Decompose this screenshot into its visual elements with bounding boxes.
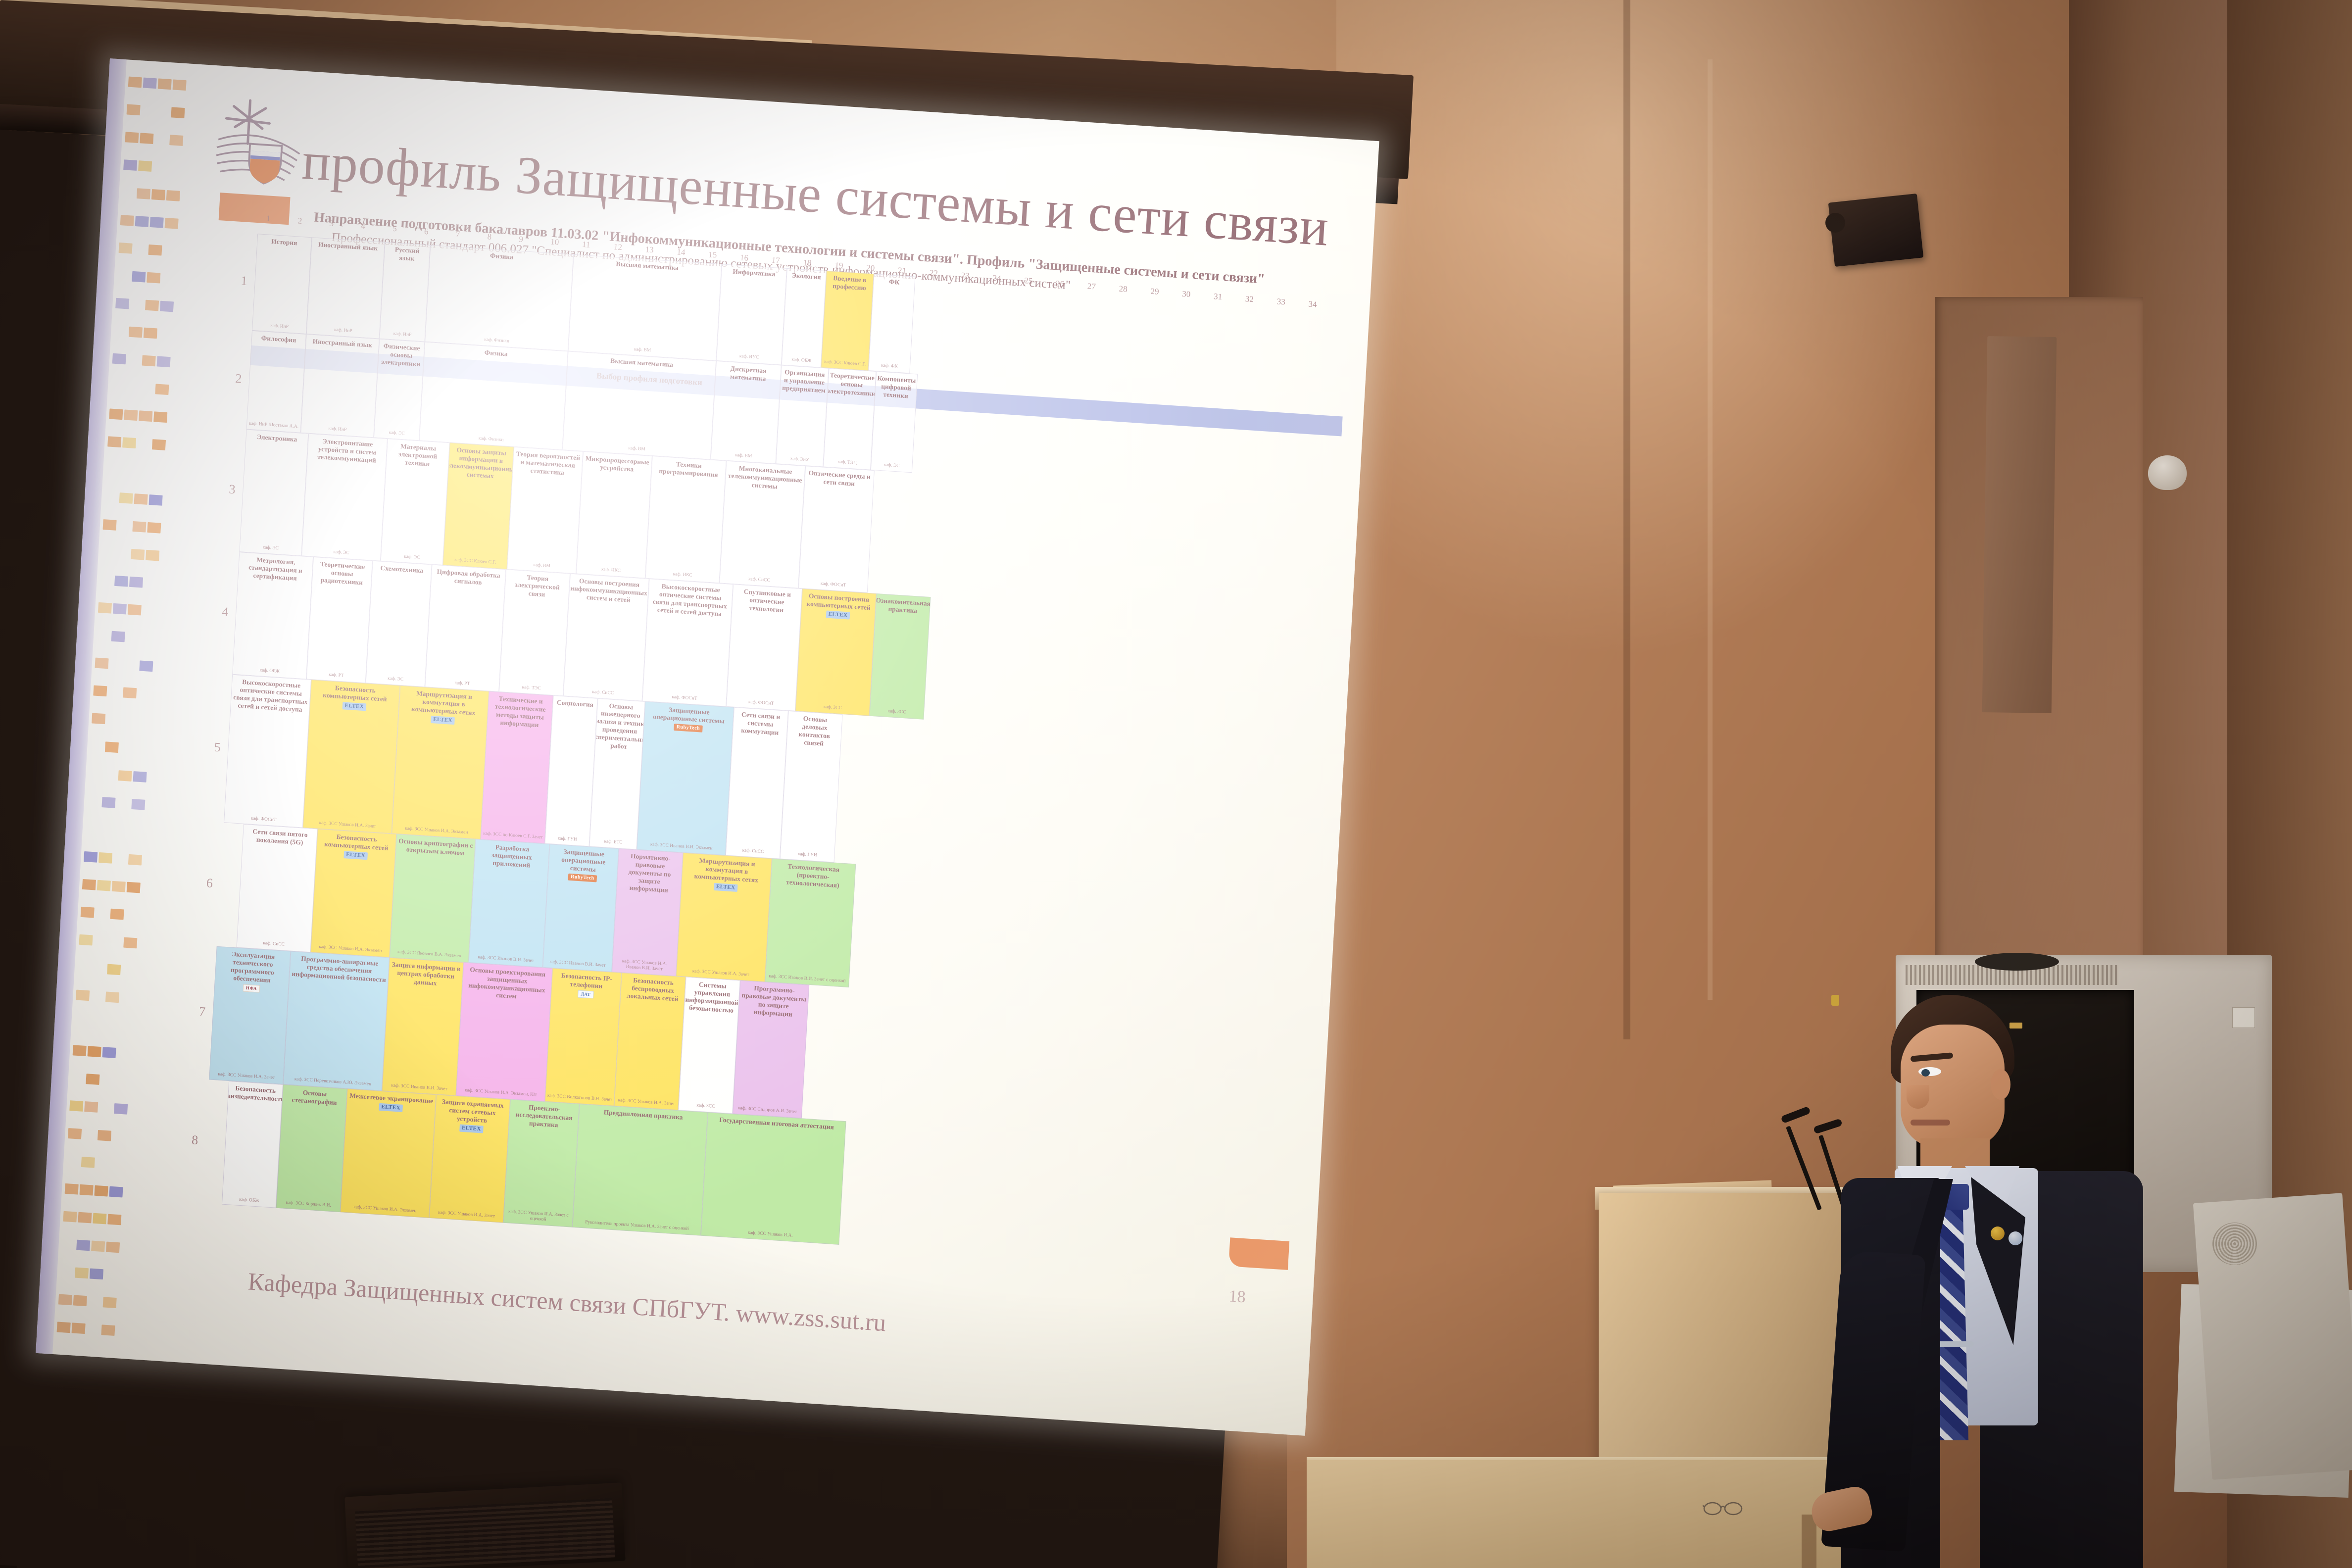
mosaic-tile xyxy=(98,1130,111,1141)
mosaic-tile xyxy=(148,245,162,256)
mosaic-tile xyxy=(78,1212,92,1224)
column-number: 4 xyxy=(361,221,366,232)
column-number: 9 xyxy=(519,234,524,245)
course-title: Государственная итоговая аттестация xyxy=(719,1116,834,1131)
course-cell[interactable]: Русский языккаф. ИиР xyxy=(379,242,430,342)
course-cell[interactable]: Электроникакаф. ЭС xyxy=(239,429,308,556)
course-title: Сети связи пятого поколения (5G) xyxy=(245,827,316,847)
course-meta: каф. РТ xyxy=(454,681,470,687)
mosaic-tile xyxy=(105,741,119,753)
course-title: Метрология, стандартизация и сертификаци… xyxy=(240,555,311,583)
course-cell[interactable]: Физические основы электроникикаф. ЭС xyxy=(374,339,425,441)
course-cell[interactable]: Основы стеганографиикаф. ЗСС Коржик В.И. xyxy=(276,1084,347,1212)
ruby-logo-icon: RubyTech xyxy=(568,873,597,882)
mosaic-tile xyxy=(127,882,141,893)
wall-seam xyxy=(1623,0,1630,1039)
mosaic-tile xyxy=(147,522,161,534)
mosaic-tile xyxy=(128,604,142,616)
orange-corner-accent xyxy=(1228,1237,1289,1270)
course-title: Программно-правовые документы по защите … xyxy=(740,983,807,1019)
row-number: 6 xyxy=(206,876,213,891)
mosaic-tile xyxy=(84,1101,98,1113)
course-title: Защита охраняемых систем сетевых устройс… xyxy=(437,1098,508,1126)
course-title: Межсетевое экранирование xyxy=(349,1092,434,1105)
course-meta: каф. ЗСС Коржик В.И. xyxy=(286,1200,331,1209)
mosaic-tile xyxy=(132,271,146,283)
mosaic-tile xyxy=(129,577,143,588)
course-meta: каф. ЭС xyxy=(404,554,420,561)
course-cell[interactable]: Технологическая (проектно-технологическа… xyxy=(765,858,856,987)
course-title: Информатика xyxy=(733,268,776,278)
course-cell[interactable]: Спутниковые и оптические технологиикаф. … xyxy=(726,584,802,711)
course-cell[interactable]: Физикакаф. Физики xyxy=(425,245,574,351)
course-cell[interactable]: Технические и технологические методы защ… xyxy=(481,691,553,844)
course-title: Защищенные операционные системы xyxy=(550,847,617,875)
course-cell[interactable]: Основы инженерного анализа и техники про… xyxy=(589,698,645,850)
course-cell[interactable]: Основы криптографии с открытым ключомкаф… xyxy=(390,834,476,963)
course-cell[interactable]: Иностранный языккаф. ИиР xyxy=(306,237,385,339)
curriculum-table[interactable]: Выбор профиля подготовки 1Историякаф. Ии… xyxy=(201,234,1349,1283)
course-meta: каф. ИУС xyxy=(739,354,759,361)
mosaic-tile xyxy=(122,437,136,448)
course-meta: каф. ЗСС xyxy=(696,1103,715,1110)
course-cell[interactable]: Микропроцессорные устройствакаф. ИКС xyxy=(576,451,652,579)
mosaic-tile xyxy=(144,328,157,339)
course-meta: каф. ЗСС xyxy=(887,709,906,715)
column-speaker xyxy=(1982,336,2057,713)
course-cell[interactable]: Физикакаф. Физики xyxy=(419,342,568,450)
course-title: Теория электрической связи xyxy=(506,572,568,600)
eltex-logo-icon: ELTEX xyxy=(431,716,455,725)
course-cell[interactable]: Социологиякаф. ГУИ xyxy=(545,695,598,846)
course-meta: каф. ОБЖ xyxy=(239,1197,259,1204)
course-meta: каф. ВМ xyxy=(735,453,752,459)
mosaic-tile xyxy=(113,603,127,615)
mosaic-tile xyxy=(137,188,150,199)
mosaic-tile xyxy=(86,1074,99,1085)
course-meta: каф. ЗСС Иванов В.И. Зачет xyxy=(478,955,534,964)
course-title: Основы деловых контактов связей xyxy=(788,714,840,748)
speaker-bracket xyxy=(1825,213,1845,233)
course-cell[interactable]: Дискретная математикакаф. ВМ xyxy=(711,361,782,464)
mosaic-tile xyxy=(101,797,115,808)
mosaic-tile xyxy=(131,549,145,560)
column-number: 18 xyxy=(803,258,812,268)
mosaic-tile xyxy=(120,215,134,226)
course-title: Иностранный язык xyxy=(312,338,372,349)
mosaic-tile xyxy=(129,327,143,338)
course-meta: каф. ЗСС Ушаков И.А. Иванов В.И. Зачет xyxy=(614,958,675,973)
course-title: Высшая математика xyxy=(616,260,679,272)
screen-left-edge xyxy=(0,1565,17,1568)
row-number: 2 xyxy=(235,371,243,387)
course-meta: каф. ЭС xyxy=(333,549,349,556)
course-title: Техники программирования xyxy=(653,459,725,479)
mosaic-tile xyxy=(143,77,157,89)
course-cell[interactable]: Программно-аппаратные средства обеспечен… xyxy=(283,951,390,1091)
column-number: 22 xyxy=(929,268,938,279)
course-meta: каф. ФОСиТ xyxy=(821,582,846,588)
mosaic-tile xyxy=(73,1295,87,1306)
mosaic-tile xyxy=(165,218,179,229)
column-number: 8 xyxy=(487,232,492,242)
course-meta: каф. РТ xyxy=(329,672,344,679)
course-meta: каф. ИКС xyxy=(673,572,692,579)
ruby-logo-icon: RubyTech xyxy=(674,724,702,733)
course-title: Многоканальные телекоммуникационные сист… xyxy=(727,464,803,492)
course-title: Маршрутизация и коммутация в компьютерны… xyxy=(684,856,770,885)
mosaic-tile xyxy=(169,135,183,146)
course-title: Высшая математика xyxy=(610,357,673,369)
column-number: 7 xyxy=(455,229,460,240)
mosaic-tile xyxy=(119,243,133,254)
course-cell[interactable]: Теоретические основы радиотехникикаф. РТ xyxy=(306,557,373,683)
course-meta: каф. ЗСС Ушаков И.А. Экзамен xyxy=(353,1205,417,1214)
mosaic-tile xyxy=(90,1269,103,1280)
row-number: 4 xyxy=(222,604,229,620)
course-title: Основы защиты информации в телекоммуника… xyxy=(443,445,514,482)
wall-seam-highlight xyxy=(1708,59,1713,1000)
course-title: Цифровая обработка сигналов xyxy=(433,568,504,588)
course-title: Основы построения компьютерных сетей xyxy=(803,592,875,612)
course-title: Иностранный язык xyxy=(318,241,378,252)
course-meta: каф. ЗСС Ушаков И.А. Экзамен, КП xyxy=(465,1088,537,1098)
mosaic-tile xyxy=(84,851,98,863)
mosaic-tile xyxy=(146,550,159,561)
course-cell[interactable]: ФКкаф. ФК xyxy=(868,274,915,373)
course-title: Основы инженерного анализа и техники про… xyxy=(589,701,645,752)
course-cell[interactable]: Экологиякаф. ОБЖ xyxy=(782,268,827,368)
course-cell[interactable]: Безопасность IP-телефонииДАТкаф. ЗСС Вол… xyxy=(545,968,622,1106)
mosaic-tile xyxy=(134,493,148,505)
course-title: Русский язык xyxy=(386,245,429,263)
course-title: Безопасность беспроводных локальных сете… xyxy=(622,976,684,1003)
course-title: Преддипломная практика xyxy=(603,1108,683,1121)
eltex-logo-icon: ELTEX xyxy=(713,883,738,892)
course-cell[interactable]: Маршрутизация и коммутация в компьютерны… xyxy=(676,853,772,982)
column-number: 5 xyxy=(392,224,397,234)
mosaic-tile xyxy=(124,409,138,421)
course-meta: каф. Физики xyxy=(479,436,504,443)
course-cell[interactable]: Ознакомительная практикакаф. ЗСС xyxy=(869,593,931,720)
course-cell[interactable]: Многоканальные телекоммуникационные сист… xyxy=(719,461,805,588)
mosaic-tile xyxy=(109,408,123,420)
mosaic-tile xyxy=(145,300,159,311)
course-title: Безопасность IP-телефонии xyxy=(553,971,620,991)
speaker-grille-icon xyxy=(2212,1223,2257,1265)
mosaic-tile xyxy=(58,1294,72,1306)
course-meta: каф. ЗСС Ушаков И.А. Зачет с оценкой xyxy=(505,1209,571,1225)
course-cell[interactable]: Защищенные операционные системыRubyTechк… xyxy=(542,844,619,972)
course-cell[interactable]: Философиякаф. ИиР Шестаков А.А. xyxy=(246,331,306,433)
mosaic-tile xyxy=(97,880,111,891)
column-number: 1 xyxy=(266,213,271,224)
course-cell[interactable]: Цифровая обработка сигналовкаф. РТ xyxy=(425,564,506,691)
course-cell[interactable]: Высшая математикакаф. ВМ xyxy=(568,254,722,361)
course-meta: каф. ЗСС Ушаков И.А. Экзамен xyxy=(405,826,468,835)
mosaic-tile xyxy=(115,298,129,309)
course-title: Физика xyxy=(490,252,514,261)
course-cell[interactable]: Основы построения инфокоммуникационных с… xyxy=(563,574,649,701)
mosaic-tile xyxy=(80,1184,94,1196)
course-cell[interactable]: Высокоскоростные оптические системы связ… xyxy=(224,675,311,828)
mosaic-tile xyxy=(131,799,145,810)
course-meta: каф. ЗСС Иванов В.И. Зачет xyxy=(391,1083,447,1092)
lapel-pin-icon xyxy=(1991,1226,2005,1240)
course-meta: каф. ТЭС xyxy=(522,685,541,691)
course-title: Физика xyxy=(484,348,508,358)
course-meta: каф. ЭС xyxy=(388,676,404,683)
mosaic-tile xyxy=(65,1183,79,1195)
course-cell[interactable]: Введение в профессиюкаф. ЗСС Клюев С.Г. xyxy=(821,271,874,371)
course-cell[interactable]: Иностранный языккаф. ИиР xyxy=(300,334,379,438)
course-meta: каф. ГУИ xyxy=(798,852,817,859)
course-title: Социология xyxy=(556,698,593,709)
mosaic-tile xyxy=(79,934,93,946)
course-meta: каф. ЗСС Ушаков И.А. Экзамен xyxy=(319,944,382,954)
course-cell[interactable]: Высокоскоростные оптические системы связ… xyxy=(642,579,733,707)
course-meta: каф. ИиР xyxy=(334,328,352,334)
course-meta: каф. ФК xyxy=(881,363,898,370)
course-meta: каф. ИиР xyxy=(393,331,411,338)
mosaic-tile xyxy=(123,687,137,698)
course-cell[interactable]: Информатикакаф. ИУС xyxy=(716,264,787,365)
course-cell[interactable]: Компоненты цифровой техникикаф. ЭС xyxy=(871,371,918,473)
course-cell[interactable]: Сети связи и системы коммутациикаф. СиСС xyxy=(726,707,788,859)
mosaic-tile xyxy=(107,964,121,976)
mosaic-tile xyxy=(92,713,105,724)
mosaic-tile xyxy=(81,1157,95,1168)
course-cell[interactable]: Эксплуатация технического программного о… xyxy=(209,946,291,1084)
mosaic-tile xyxy=(166,190,180,201)
eltex-logo-icon: ELTEX xyxy=(826,610,850,619)
course-title: Экология xyxy=(791,272,821,282)
mosaic-tile xyxy=(149,494,163,506)
course-cell[interactable]: Организация и управление предприятиемкаф… xyxy=(776,365,829,467)
column-number: 10 xyxy=(550,237,559,247)
course-meta: каф. ЗСС Волкогонов В.Н. Зачет xyxy=(547,1093,613,1103)
course-cell[interactable]: Государственная итоговая аттестациякаф. … xyxy=(701,1112,846,1245)
eltex-logo-icon: ELTEX xyxy=(459,1124,484,1133)
mouth xyxy=(1911,1120,1950,1126)
course-title: Программно-аппаратные средства обеспечен… xyxy=(291,954,387,984)
course-title: Физические основы электроники xyxy=(380,342,423,368)
presenter xyxy=(1831,995,2178,1568)
course-cell[interactable]: Системы управления информационной безопа… xyxy=(678,977,740,1114)
course-meta: каф. ЗСС Клюев С.Г. xyxy=(824,359,866,367)
course-cell[interactable]: Историякаф. ИиР xyxy=(252,234,312,334)
mosaic-tile xyxy=(155,384,169,395)
course-meta: каф. ФОСиТ xyxy=(672,695,697,702)
mosaic-tile xyxy=(106,1242,120,1253)
course-title: Философия xyxy=(261,334,296,344)
column-number: 2 xyxy=(297,216,302,227)
course-cell[interactable]: Преддипломная практикаРуководитель проек… xyxy=(572,1104,708,1236)
course-meta: каф. ИКС xyxy=(601,567,621,574)
projected-slide[interactable]: профиль Защищенные системы и сети связи … xyxy=(36,58,1379,1436)
column-number: 12 xyxy=(613,242,622,252)
mosaic-tile xyxy=(107,436,121,447)
course-cell[interactable]: Межсетевое экранированиеELTEXкаф. ЗСС Уш… xyxy=(340,1089,436,1218)
course-meta: каф. ОБЖ xyxy=(259,668,280,675)
course-title: Спутниковые и оптические технологии xyxy=(734,587,800,615)
course-meta: каф. ГУИ xyxy=(558,836,577,843)
course-meta: каф. ЗСС по Клюев С.Г. Зачет xyxy=(483,831,543,840)
course-cell[interactable]: Теория электрической связикаф. ТЭС xyxy=(499,569,570,696)
mosaic-tile xyxy=(93,1213,106,1225)
mosaic-tile xyxy=(103,1297,117,1308)
mosaic-tile xyxy=(57,1322,71,1333)
course-title: Оптические среды и сети связи xyxy=(806,469,873,489)
mosaic-tile xyxy=(133,771,147,783)
course-cell[interactable]: Сети связи пятого поколения (5G)каф. СиС… xyxy=(237,824,318,952)
course-cell[interactable]: Оптические среды и сети связикаф. ФОСиТ xyxy=(798,466,875,593)
course-cell[interactable]: Защита информации в центрах обработки да… xyxy=(382,958,464,1096)
course-title: Сети связи и системы коммутации xyxy=(735,710,786,737)
course-meta: Руководитель проекта Ушаков И.А. Зачет с… xyxy=(585,1220,689,1232)
course-cell[interactable]: Теоретические основы электротехникикаф. … xyxy=(823,368,876,470)
mosaic-tile xyxy=(111,631,125,642)
course-cell[interactable]: Нормативно-правовые документы по защите … xyxy=(612,848,683,976)
course-cell[interactable]: Основы деловых контактов связейкаф. ГУИ xyxy=(780,711,843,863)
column-number: 6 xyxy=(424,227,429,237)
course-meta: каф. СиСС xyxy=(742,848,764,855)
course-cell[interactable]: Безопасность компьютерных сетейELTEXкаф.… xyxy=(303,680,400,833)
course-meta: каф. ЭС xyxy=(389,430,405,437)
course-cell[interactable]: Безопасность беспроводных локальных сете… xyxy=(614,973,686,1110)
course-cell[interactable]: Теория вероятностей и математическая ста… xyxy=(507,447,583,574)
course-title: Безопасность жизнедеятельности xyxy=(226,1084,283,1104)
mosaic-tile xyxy=(119,492,133,504)
mosaic-tile xyxy=(171,107,185,118)
eltex-logo-icon: ELTEX xyxy=(379,1103,403,1112)
mosaic-tile xyxy=(68,1128,82,1139)
course-cell[interactable]: Разработка защищенных приложенийкаф. ЗСС… xyxy=(469,839,550,967)
wall-speaker-icon xyxy=(1828,194,1924,267)
mosaic-tile xyxy=(103,519,117,531)
course-cell[interactable]: Основы построения компьютерных сетейELTE… xyxy=(795,588,877,716)
course-title: Микропроцессорные устройства xyxy=(584,454,650,474)
course-title: Технические и технологические методы защ… xyxy=(489,694,551,730)
mosaic-tile xyxy=(138,160,152,172)
course-cell[interactable]: Программно-правовые документы по защите … xyxy=(733,980,809,1119)
course-meta: каф. ЗСС Ушаков И.А. Зачет xyxy=(618,1098,675,1107)
slide-number: 18 xyxy=(1228,1287,1246,1307)
mosaic-tile xyxy=(139,410,152,422)
course-meta: каф. ИиР xyxy=(270,323,289,330)
course-title: Теория вероятностей и математическая ста… xyxy=(514,450,581,478)
mosaic-tile xyxy=(75,1268,89,1279)
mosaic-tile xyxy=(142,355,156,367)
course-meta: каф. ЭС xyxy=(883,462,900,469)
course-meta: каф. ВМ xyxy=(628,446,645,452)
course-cell[interactable]: Основы проектирования защищенных инфоком… xyxy=(456,962,552,1101)
course-cell[interactable]: Техники программированиякаф. ИКС xyxy=(645,456,727,583)
course-cell[interactable]: Проектно-исследовательская практикакаф. … xyxy=(503,1099,580,1227)
nda-logo-icon: НФА xyxy=(243,984,260,992)
mosaic-tile xyxy=(123,159,137,171)
course-title: Нормативно-правовые документы по защите … xyxy=(618,851,681,894)
course-title: Основы построения инфокоммуникационных с… xyxy=(570,577,648,605)
footer-text: Кафедра Защищенных систем связи СПбГУТ. … xyxy=(247,1267,1187,1357)
rack-label-plate xyxy=(2232,1007,2255,1028)
mosaic-tile xyxy=(125,132,139,143)
course-title: Электропитание устройств и систем телеко… xyxy=(309,437,385,465)
row-number: 7 xyxy=(198,1004,206,1020)
mosaic-tile xyxy=(150,217,164,228)
course-title: Основы криптографии с открытым ключом xyxy=(397,837,474,858)
course-cell[interactable]: Электропитание устройств и систем телеко… xyxy=(301,434,388,561)
course-cell[interactable]: Метрология, стандартизация и сертификаци… xyxy=(232,552,313,679)
course-title: Защищенные операционные системы xyxy=(646,704,732,726)
mosaic-tile xyxy=(82,879,96,890)
mosaic-tile xyxy=(173,79,187,91)
course-cell[interactable]: Безопасность жизнедеятельностикаф. ОБЖ xyxy=(222,1081,283,1208)
mosaic-tile xyxy=(112,881,126,892)
course-title: Компоненты цифровой техники xyxy=(876,374,916,400)
course-cell[interactable]: Материалы электронной техникикаф. ЭС xyxy=(381,439,450,565)
mosaic-tile xyxy=(105,991,119,1003)
course-title: ФК xyxy=(889,278,900,286)
mosaic-tile xyxy=(118,770,132,782)
course-cell[interactable]: Безопасность компьютерных сетейELTEXкаф.… xyxy=(310,829,396,958)
column-number: 13 xyxy=(645,245,654,255)
row-number: 5 xyxy=(214,740,221,755)
course-cell[interactable]: Маршрутизация и коммутация в компьютерны… xyxy=(392,686,489,839)
course-meta: каф. ЗСС xyxy=(824,705,842,711)
mosaic-tile xyxy=(98,602,112,614)
eltex-logo-icon: ELTEX xyxy=(342,702,367,711)
column-number: 17 xyxy=(771,255,780,265)
mosaic-tile xyxy=(151,189,165,200)
course-title: Технологическая (проектно-технологическа… xyxy=(773,862,854,890)
wall-light-patch xyxy=(1336,0,2029,693)
course-cell[interactable]: Высшая математикакаф. ВМ xyxy=(562,351,716,459)
course-meta: каф. ЗСС Ушаков И.А. Зачет xyxy=(692,969,749,978)
course-cell[interactable]: Защищенные операционные системыRubyTechк… xyxy=(637,701,734,855)
course-title: Введение в профессию xyxy=(828,274,872,293)
course-title: Эксплуатация технического программного о… xyxy=(217,949,289,985)
column-number: 19 xyxy=(834,260,843,271)
course-meta: каф. ФОСиТ xyxy=(251,816,277,823)
mosaic-tile xyxy=(158,78,172,90)
course-title: Высокоскоростные оптические системы связ… xyxy=(649,582,731,618)
eyeglasses-icon xyxy=(1703,1500,1744,1516)
mosaic-tile xyxy=(153,411,167,423)
mosaic-tile xyxy=(140,133,153,144)
nose xyxy=(1907,1085,1929,1109)
course-title: Организация и управление предприятием xyxy=(782,368,827,394)
mosaic-tile xyxy=(102,1047,116,1058)
course-meta: каф. ИиР Шестаков А.А. xyxy=(249,421,299,430)
mosaic-tile xyxy=(69,1100,83,1112)
course-title: Электроника xyxy=(257,433,297,443)
shirt-pin-icon xyxy=(1831,995,1839,1006)
mosaic-tile xyxy=(72,1323,86,1334)
course-cell[interactable]: Схемотехникакаф. ЭС xyxy=(366,561,432,687)
ear xyxy=(1991,1069,2010,1100)
course-cell[interactable]: Основы защиты информации в телекоммуника… xyxy=(443,442,514,569)
course-title: Разработка защищенных приложений xyxy=(476,842,547,871)
course-title: Маршрутизация и коммутация в компьютерны… xyxy=(400,688,487,718)
course-title: История xyxy=(271,238,297,247)
mosaic-tile xyxy=(107,1214,121,1225)
ceiling-mount-disc xyxy=(1975,953,2059,971)
mosaic-tile xyxy=(135,216,149,227)
course-meta: каф. ЗСС Клюев С.Г. xyxy=(454,557,496,565)
course-cell[interactable]: Защита охраняемых систем сетевых устройс… xyxy=(429,1094,510,1223)
mosaic-tile xyxy=(114,1103,128,1115)
